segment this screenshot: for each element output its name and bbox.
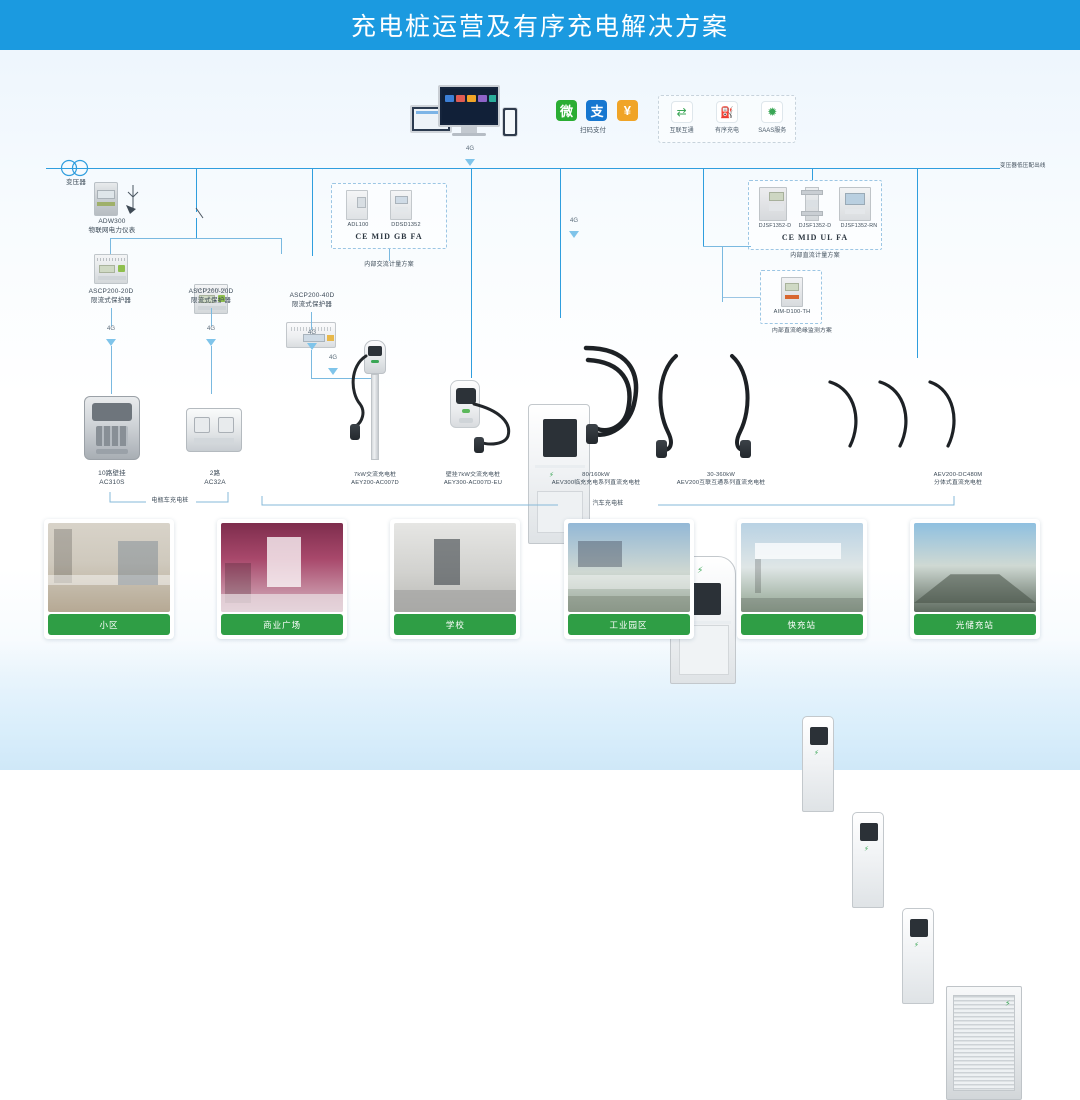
alipay-icon: 支 xyxy=(586,100,607,121)
service-label: 有序充电 xyxy=(707,125,747,134)
protector-model: ASCP200-20D xyxy=(189,288,234,295)
charging-gun-wallbox-eu xyxy=(474,437,484,453)
ev-pile-desc: 分体式直流充电桩 xyxy=(934,480,982,486)
unionpay-icon: ¥ xyxy=(617,100,638,121)
desktop-monitor xyxy=(438,85,500,127)
payment-caption: 扫码支付 xyxy=(556,124,630,134)
aim-d100-th-device xyxy=(781,277,803,307)
saas-icon: ✹ xyxy=(761,101,783,123)
main-bus-line xyxy=(46,168,958,169)
djsf1352-d-device-2 xyxy=(801,187,823,221)
ev-4g-label-1: 4G xyxy=(560,218,588,224)
adl100-device xyxy=(346,190,368,220)
ev-group-label: 汽车充电桩 xyxy=(558,500,658,508)
scene-caption: 学校 xyxy=(394,614,516,635)
signal-icon xyxy=(465,159,475,166)
drop-ac-wallbox xyxy=(471,168,472,378)
ev-pile-model: AEY300-AC007D-EU xyxy=(444,480,502,486)
protector-model: ASCP200-40D xyxy=(290,292,335,299)
charging-gun-dc360kw-left xyxy=(656,440,667,458)
scene-photo xyxy=(741,523,863,612)
ev-4g-marker-2: 4G xyxy=(319,355,347,380)
ev-terminal-split-2: ⚡ xyxy=(852,812,884,908)
page-title: 充电桩运营及有序充电解决方案 xyxy=(351,7,729,43)
scene-photo xyxy=(48,523,170,612)
adl100-label: ADL100 xyxy=(334,222,382,229)
ev-pile-model: AEV200互联互通系列直流充电桩 xyxy=(677,480,765,486)
ev-4g-label-2: 4G xyxy=(319,355,347,361)
wechat-pay-icon: 微 xyxy=(556,100,577,121)
ac-certifications: CE MID GB FA xyxy=(332,232,446,241)
adw300-meter-device xyxy=(94,182,118,216)
ac-box-connector xyxy=(389,249,390,261)
ev-pile-title: 7kW交流充电桩 xyxy=(354,472,396,478)
ebike-pile-10way-label: 10路壁挂 AC310S xyxy=(70,470,154,488)
signal-icon xyxy=(328,368,338,375)
scene-card[interactable]: 商业广场 xyxy=(217,519,347,639)
protector-1-down xyxy=(111,346,112,394)
branch-drop-left-2 xyxy=(196,218,197,238)
protector-bus xyxy=(110,238,282,239)
insulation-caption: 内部直流绝缘监测方案 xyxy=(752,328,852,336)
service-label: 互联互通 xyxy=(662,125,702,134)
protector-3-4g-label: 4G xyxy=(298,330,326,336)
ev-pile-model: AEY200-AC007D xyxy=(351,480,399,486)
ev-pile-dc360kw-label: 30-360kW AEV200互联互通系列直流充电桩 xyxy=(638,472,804,488)
signal-icon xyxy=(206,339,216,346)
ev-4g-marker-1: 4G xyxy=(560,218,588,243)
adw300-model: ADW300 xyxy=(98,218,125,225)
ebike-pile-model: AC32A xyxy=(204,479,226,486)
protector-2-down xyxy=(211,346,212,394)
protector-2-out xyxy=(211,308,212,326)
ev-terminal-split-1: ⚡ xyxy=(802,716,834,812)
protector-model: ASCP200-20D xyxy=(89,288,134,295)
scene-photo xyxy=(914,523,1036,612)
payment-group: 微 支 ¥ 扫码支付 xyxy=(556,100,643,134)
protector-1-out xyxy=(111,308,112,326)
ebike-pile-10way xyxy=(84,396,140,460)
protector-desc: 限流式保护器 xyxy=(292,301,332,308)
ac-metering-caption: 内部交流计量方案 xyxy=(349,261,429,269)
service-saas: ✹ SAAS服务 xyxy=(752,101,792,134)
transformer-icon xyxy=(56,159,96,177)
protector-1-4g-label: 4G xyxy=(97,326,125,332)
charging-cable-split-2 xyxy=(874,376,918,458)
scene-caption: 快充站 xyxy=(741,614,863,635)
scene-photo xyxy=(221,523,343,612)
djsf1352-rn-device xyxy=(839,187,871,221)
ev-pile-model: AEV200-DC480M xyxy=(934,472,983,478)
drop-dc480m xyxy=(917,168,918,358)
diagram-root: 充电桩运营及有序充电解决方案 4G 微 xyxy=(0,0,1080,770)
ev-pile-title: 壁挂7kW交流充电桩 xyxy=(446,472,500,478)
djsf1352-d-device-1 xyxy=(759,187,787,221)
ddsd1352-device xyxy=(390,190,412,220)
charging-cable-split-3 xyxy=(924,376,968,458)
power-cabinet-dc480m: ⚡ xyxy=(946,986,1022,1100)
drop-dc-360kw-b xyxy=(722,246,723,302)
scene-photo xyxy=(394,523,516,612)
scene-card[interactable]: 光储充站 xyxy=(910,519,1040,639)
insulation-feed xyxy=(722,297,760,298)
adw300-desc: 物联网电力仪表 xyxy=(89,227,136,234)
ebike-pile-2way xyxy=(186,408,242,452)
cabinet-vents xyxy=(953,995,1015,1091)
ebike-pile-title: 10路壁挂 xyxy=(98,470,126,477)
dc-certifications: CE MID UL FA xyxy=(749,233,881,242)
charging-cable-split-1 xyxy=(824,376,868,458)
ascp200-label-1: ASCP200-20D 限流式保护器 xyxy=(68,288,154,306)
scene-photo xyxy=(568,523,690,612)
ebike-group-label: 电瓶车充电桩 xyxy=(120,497,220,505)
aim-d100-th-label: AIM-D100-TH xyxy=(755,309,829,317)
ev-pile-ac7kw-label: 7kW交流充电桩 AEY200-AC007D xyxy=(330,472,420,488)
mobile-phone xyxy=(502,107,518,137)
page-header: 充电桩运营及有序充电解决方案 xyxy=(0,0,1080,50)
payment-icons: 微 支 ¥ xyxy=(556,100,643,121)
terminal-devices-group xyxy=(410,85,530,145)
drop-dc-360kw-link xyxy=(703,246,751,247)
drop-dc-80kw xyxy=(560,168,561,318)
ev-pile-title: 80/160kW xyxy=(582,472,610,478)
protector-desc: 限流式保护器 xyxy=(191,297,231,304)
protector-2-4g-label: 4G xyxy=(197,326,225,332)
protector-3-down xyxy=(311,350,312,378)
signal-icon xyxy=(307,343,317,350)
ordered-charging-icon: ⛽ xyxy=(716,101,738,123)
protector-3-out xyxy=(311,312,312,330)
breaker-icon xyxy=(190,206,206,222)
scene-card[interactable]: 快充站 xyxy=(737,519,867,639)
scene-caption: 商业广场 xyxy=(221,614,343,635)
ebike-pile-2way-label: 2路 AC32A xyxy=(180,470,250,488)
ascp200-label-2: ASCP200-20D 限流式保护器 xyxy=(168,288,254,306)
charging-cable-ac7kw xyxy=(344,352,380,432)
charging-gun-dc360kw-right xyxy=(740,440,751,458)
ebike-pile-title: 2路 xyxy=(210,470,221,477)
interconnect-icon: ⇄ xyxy=(671,101,693,123)
dc-metering-box: DJSF1352-D DJSF1352-D DJSF1352-RN CE MID… xyxy=(748,180,882,250)
scene-cards: 小区 商业广场 学校 xyxy=(44,519,1040,639)
scene-card[interactable]: 工业园区 xyxy=(564,519,694,639)
terminal-4g-label: 4G xyxy=(455,146,485,152)
branch-drop-ascp40d xyxy=(312,168,313,256)
monitor-screen xyxy=(442,89,496,123)
service-label: SAAS服务 xyxy=(752,125,792,134)
ev-terminal-split-3: ⚡ xyxy=(902,908,934,1004)
ebike-pile-model: AC310S xyxy=(99,479,124,486)
platform-services-box: ⇄ 互联互通 ⛽ 有序充电 ✹ SAAS服务 xyxy=(658,95,796,143)
protector-drop-2 xyxy=(281,238,282,254)
service-interconnect: ⇄ 互联互通 xyxy=(662,101,702,134)
scene-card[interactable]: 学校 xyxy=(390,519,520,639)
signal-icon xyxy=(106,339,116,346)
adw300-label: ADW300 物联网电力仪表 xyxy=(72,218,152,236)
ev-pile-title: 30-360kW xyxy=(707,472,735,478)
background-wash xyxy=(0,640,1080,770)
ev-pile-wallbox-eu-label: 壁挂7kW交流充电桩 AEY300-AC007D-EU xyxy=(420,472,526,488)
scene-caption: 光储充站 xyxy=(914,614,1036,635)
bus-tail-line xyxy=(958,168,1000,169)
ev-pile-dc480m-label: AEV200-DC480M 分体式直流充电桩 xyxy=(888,472,1028,488)
ev-pile-model: AEV300临充充电系列直流充电桩 xyxy=(552,480,640,486)
djsf1352-rn-label: DJSF1352-RN xyxy=(829,223,889,230)
ascp200-40d-label: ASCP200-40D 限流式保护器 xyxy=(272,292,352,310)
phone-screen xyxy=(505,110,515,134)
drop-dc-360kw-a xyxy=(703,168,704,246)
scene-caption: 工业园区 xyxy=(568,614,690,635)
insulation-monitor-box: AIM-D100-TH xyxy=(760,270,822,324)
ddsd1352-label: DDSD1352 xyxy=(378,222,434,229)
protector-drop-1 xyxy=(110,238,111,254)
protector-desc: 限流式保护器 xyxy=(91,297,131,304)
charging-gun-dc80kw xyxy=(586,424,598,444)
scene-card[interactable]: 小区 xyxy=(44,519,174,639)
ascp200-20d-device-1 xyxy=(94,254,128,284)
scene-caption: 小区 xyxy=(48,614,170,635)
dc-box-feed xyxy=(812,168,813,180)
ac-metering-box: ADL100 DDSD1352 CE MID GB FA xyxy=(331,183,447,249)
signal-icon xyxy=(569,231,579,238)
bus-right-label: 变压器低压配出线 xyxy=(1000,163,1046,170)
antenna-icon xyxy=(116,183,140,217)
dc-metering-caption: 内部直流计量方案 xyxy=(775,252,855,260)
service-ordered-charging: ⛽ 有序充电 xyxy=(707,101,747,134)
charging-gun-ac7kw xyxy=(350,424,360,440)
